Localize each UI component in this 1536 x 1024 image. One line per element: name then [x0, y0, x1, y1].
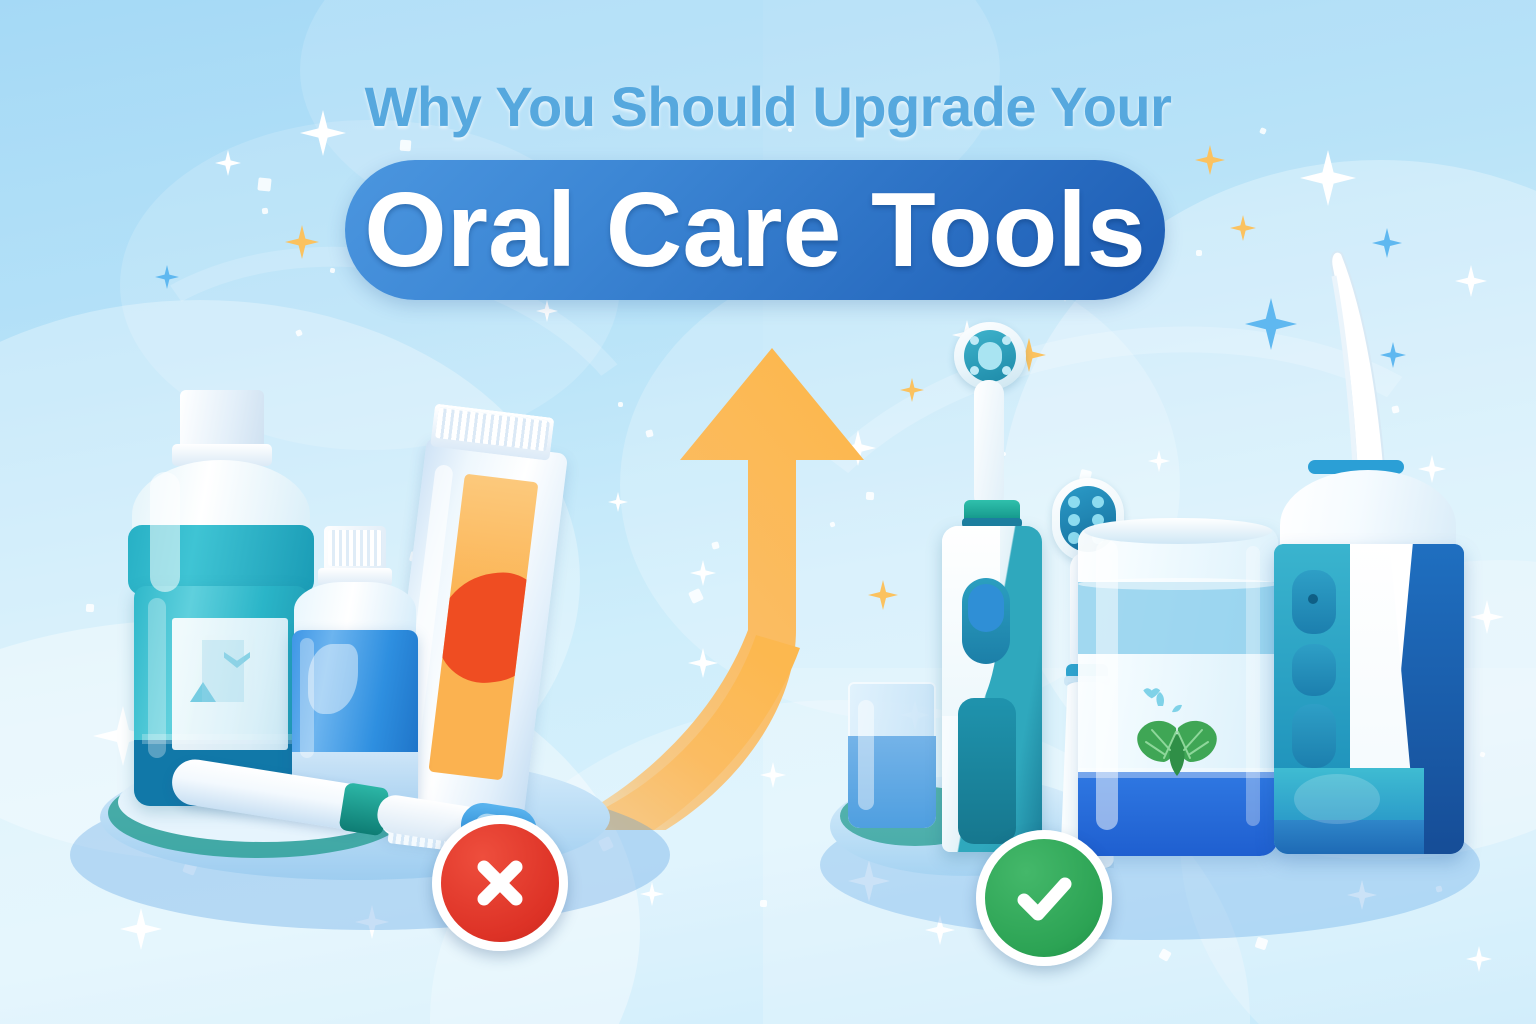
- right-product-group: [810, 230, 1510, 950]
- confetti-dot: [760, 900, 767, 907]
- page-subtitle: Why You Should Upgrade Your: [0, 74, 1536, 139]
- check-icon: [1010, 864, 1078, 932]
- sparkle-glyph: [536, 300, 558, 322]
- infographic-canvas: Why You Should Upgrade Your Oral Care To…: [0, 0, 1536, 1024]
- left-product-group: [60, 380, 720, 980]
- sparkle-star: [1195, 145, 1225, 175]
- flosser-body: [1274, 544, 1464, 854]
- mouthwash-container-mint: [1078, 502, 1278, 860]
- bottle-label: [172, 618, 288, 750]
- sparkle-glyph: [155, 265, 179, 289]
- electric-toothbrush: [928, 322, 1048, 852]
- confetti-dot: [262, 208, 269, 215]
- sparkle-glyph: [285, 225, 319, 259]
- confetti-dot: [257, 177, 271, 191]
- water-glass: [848, 682, 936, 832]
- sparkle-star: [155, 265, 179, 289]
- mint-leaf-icon: [1122, 682, 1232, 782]
- approve-badge[interactable]: [976, 830, 1112, 966]
- sparkle-star: [285, 225, 319, 259]
- sparkle-star: [215, 150, 241, 176]
- sparkle-star: [536, 300, 558, 322]
- reject-badge[interactable]: [432, 815, 568, 951]
- close-icon: [469, 852, 531, 914]
- water-flosser: [1266, 244, 1476, 864]
- sparkle-glyph: [1300, 150, 1356, 206]
- bottle-cap: [180, 390, 264, 450]
- flosser-nozzle: [1296, 244, 1416, 494]
- sparkle-glyph: [215, 150, 241, 176]
- confetti-dot: [400, 140, 412, 152]
- sparkle-glyph: [1195, 145, 1225, 175]
- sparkle-star: [1300, 150, 1356, 206]
